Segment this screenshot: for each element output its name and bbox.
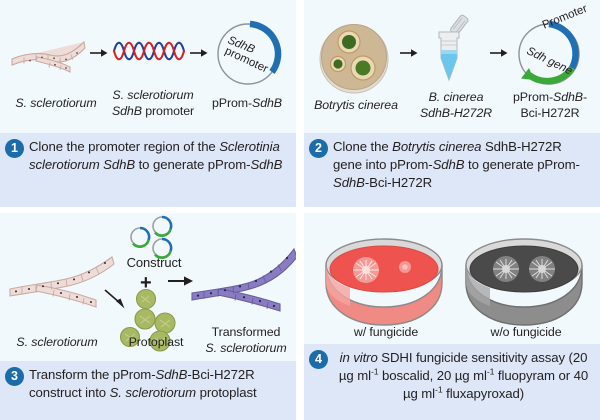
label-construct-text: Construct bbox=[127, 255, 182, 270]
label-s-sclerotiorum: S. sclerotiorum bbox=[0, 96, 112, 112]
microfuge-tube-icon bbox=[426, 14, 480, 96]
panel-3-caption-text: Transform the pProm-SdhB-Bci-H272R const… bbox=[29, 366, 290, 402]
label-botrytis-cinerea: Botrytis cinerea bbox=[304, 98, 410, 114]
colony-large bbox=[353, 257, 379, 283]
step-badge-2: 2 bbox=[309, 139, 328, 158]
colony-left bbox=[493, 256, 519, 282]
figure-root: SdhB promoter S. sclerotiorum S. sclerot… bbox=[0, 0, 600, 420]
plasmid-gene-label: Sdh gene bbox=[525, 45, 575, 77]
panel-3-artwork: Construct + bbox=[0, 213, 296, 361]
panel-step-1: SdhB promoter S. sclerotiorum S. sclerot… bbox=[0, 0, 296, 207]
panel-2-caption: 2 Clone the Botrytis cinerea SdhB-H272R … bbox=[304, 133, 600, 207]
panel-4-caption-text: in vitro SDHI fungicide sensitivity assa… bbox=[314, 349, 594, 404]
petri-dish-with-fungicide-icon bbox=[322, 231, 450, 331]
label-construct: Construct bbox=[108, 255, 200, 271]
label-transformed: Transformed S. sclerotiorum bbox=[196, 325, 296, 356]
label-promoter-line1: S. sclerotiorum bbox=[112, 88, 193, 102]
label-p3-organism: S. sclerotiorum bbox=[16, 335, 97, 349]
arrow-right-2a bbox=[400, 48, 418, 58]
label-protoplast: Protoplast bbox=[110, 335, 202, 351]
label-pprom-gene: SdhB bbox=[252, 96, 282, 110]
step-badge-3: 3 bbox=[5, 367, 24, 386]
panel-step-3: Construct + bbox=[0, 213, 296, 420]
plasmid-pprom-sdhb-bci-icon: Promoter Sdh gene bbox=[504, 2, 600, 96]
label-plasmid2-line2: Bci-H272R bbox=[520, 106, 579, 120]
panel-1-artwork: SdhB promoter S. sclerotiorum S. sclerot… bbox=[0, 0, 296, 133]
label-promoter-line2-gene: SdhB bbox=[112, 104, 142, 118]
dna-double-helix-icon bbox=[112, 38, 186, 64]
step-badge-1: 1 bbox=[5, 139, 24, 158]
label-tube-line2: SdhB-H272R bbox=[420, 106, 492, 120]
colony-right bbox=[529, 256, 555, 282]
label-pprom-sdhb-bci: pProm-SdhB- Bci-H272R bbox=[500, 90, 600, 121]
label-promoter-line2-rest: promoter bbox=[142, 104, 194, 118]
colony-small bbox=[399, 261, 411, 273]
label-with-fungicide: w/ fungicide bbox=[324, 325, 448, 341]
label-s-sclerotiorum-text: S. sclerotiorum bbox=[15, 96, 96, 110]
label-s-sclerotiorum: S. sclerotiorum bbox=[2, 335, 112, 351]
label-b-cinerea-sdhb-h272r: B. cinerea SdhB-H272R bbox=[410, 90, 502, 121]
label-pprom-prefix: pProm- bbox=[212, 96, 252, 110]
label-protoplast-text: Protoplast bbox=[129, 335, 184, 349]
panel-step-2: Promoter Sdh gene Botrytis cinerea B. ci… bbox=[304, 0, 600, 207]
label-pprom-sdhb: pProm-SdhB bbox=[198, 96, 296, 112]
label-plasmid2-gene: SdhB bbox=[553, 90, 583, 104]
label-plasmid2-dash: - bbox=[583, 90, 587, 104]
panel-1-caption: 1 Clone the promoter region of the Scler… bbox=[0, 133, 296, 207]
arrow-right-1a bbox=[90, 48, 108, 58]
label-tube-line1: B. cinerea bbox=[429, 90, 484, 104]
label-without-fungicide-text: w/o fungicide bbox=[490, 325, 561, 339]
arrow-right-1b bbox=[190, 48, 208, 58]
hypha-transformed-icon bbox=[190, 247, 296, 319]
hypha-sclerotiorum-icon bbox=[10, 28, 96, 78]
panel-4-artwork: w/ fungicide w/o fungicide bbox=[304, 213, 600, 344]
label-sdhb-promoter: S. sclerotiorum SdhB promoter bbox=[104, 88, 202, 119]
panel-2-artwork: Promoter Sdh gene Botrytis cinerea B. ci… bbox=[304, 0, 600, 133]
panel-4-caption: 4 in vitro SDHI fungicide sensitivity as… bbox=[304, 344, 600, 420]
culture-plate-botrytis-icon bbox=[316, 20, 392, 96]
label-without-fungicide: w/o fungicide bbox=[462, 325, 590, 341]
panel-3-caption: 3 Transform the pProm-SdhB-Bci-H272R con… bbox=[0, 361, 296, 420]
label-transformed-line2: S. sclerotiorum bbox=[205, 341, 286, 355]
label-transformed-line1: Transformed bbox=[212, 325, 281, 339]
panel-2-caption-text: Clone the Botrytis cinerea SdhB-H272R ge… bbox=[333, 138, 594, 193]
label-plasmid2-prefix: pProm- bbox=[513, 90, 553, 104]
panel-step-4: w/ fungicide w/o fungicide 4 in vitro SD… bbox=[304, 213, 600, 420]
hypha-sclerotiorum-icon bbox=[8, 255, 118, 317]
label-with-fungicide-text: w/ fungicide bbox=[354, 325, 418, 339]
panel-1-caption-text: Clone the promoter region of the Sclerot… bbox=[29, 138, 290, 174]
label-botrytis-text: Botrytis cinerea bbox=[314, 98, 398, 112]
plasmid-pprom-sdhb-icon: SdhB promoter bbox=[210, 12, 290, 92]
petri-dish-without-fungicide-icon bbox=[462, 231, 590, 331]
